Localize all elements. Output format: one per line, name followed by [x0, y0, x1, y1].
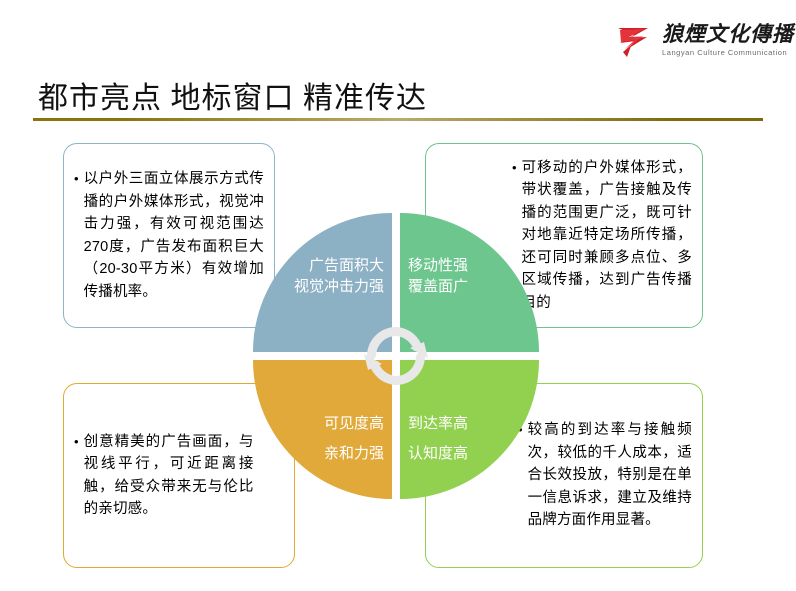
quadrant-label-line1: 可见度高 — [324, 409, 384, 439]
quadrant-bottom-right-label: 到达率高 认知度高 — [408, 409, 468, 469]
quadrant-label-line1: 移动性强 — [408, 255, 468, 276]
quadrant-label-line2: 认知度高 — [408, 439, 468, 469]
quadrant-label-line1: 到达率高 — [408, 409, 468, 439]
quadrant-top-left[interactable]: 广告面积大 视觉冲击力强 — [253, 213, 392, 352]
quadrant-label-line1: 广告面积大 — [294, 255, 384, 276]
callout-bottom-right-text: 较高的到达率与接触频次，较低的千人成本，适合长效投放，特别是在单一信息诉求，建立… — [528, 419, 692, 532]
company-logo: 狼煙文化傳播 Langyan Culture Communication — [614, 12, 784, 70]
quadrant-label-line2: 亲和力强 — [324, 439, 384, 469]
bullet-icon: • — [512, 157, 517, 180]
four-quadrant-diagram: 广告面积大 视觉冲击力强 移动性强 覆盖面广 可见度高 亲和力强 到达率高 认知… — [253, 213, 539, 499]
quadrant-top-right-label: 移动性强 覆盖面广 — [408, 255, 468, 297]
quadrant-top-right[interactable]: 移动性强 覆盖面广 — [400, 213, 539, 352]
quadrant-bottom-left-label: 可见度高 亲和力强 — [324, 409, 384, 469]
quadrant-bottom-right[interactable]: 到达率高 认知度高 — [400, 360, 539, 499]
page-title: 都市亮点 地标窗口 精准传达 — [38, 73, 427, 117]
bullet-icon: • — [74, 168, 79, 191]
callout-top-right-text: 可移动的户外媒体形式，带状覆盖，广告接触及传播的范围更广泛，既可针对地靠近特定场… — [522, 157, 692, 315]
quadrant-label-line2: 视觉冲击力强 — [294, 276, 384, 297]
callout-bottom-left-text: 创意精美的广告画面，与视线平行，可近距离接触，给受众带来无与伦比的亲切感。 — [84, 431, 254, 521]
quadrant-top-left-label: 广告面积大 视觉冲击力强 — [294, 255, 384, 297]
logo-chinese-name: 狼煙文化傳播 — [662, 23, 794, 45]
red-arrow-logo-icon — [614, 19, 658, 63]
callout-top-left-text: 以户外三面立体展示方式传播的户外媒体形式，视觉冲击力强，有效可视范围达270度，… — [84, 168, 264, 303]
callout-top-left: • 以户外三面立体展示方式传播的户外媒体形式，视觉冲击力强，有效可视范围达270… — [63, 143, 275, 328]
title-divider — [33, 118, 763, 121]
quadrant-bottom-left[interactable]: 可见度高 亲和力强 — [253, 360, 392, 499]
quadrant-label-line2: 覆盖面广 — [408, 276, 468, 297]
logo-english-name: Langyan Culture Communication — [662, 48, 794, 57]
bullet-icon: • — [74, 431, 79, 454]
